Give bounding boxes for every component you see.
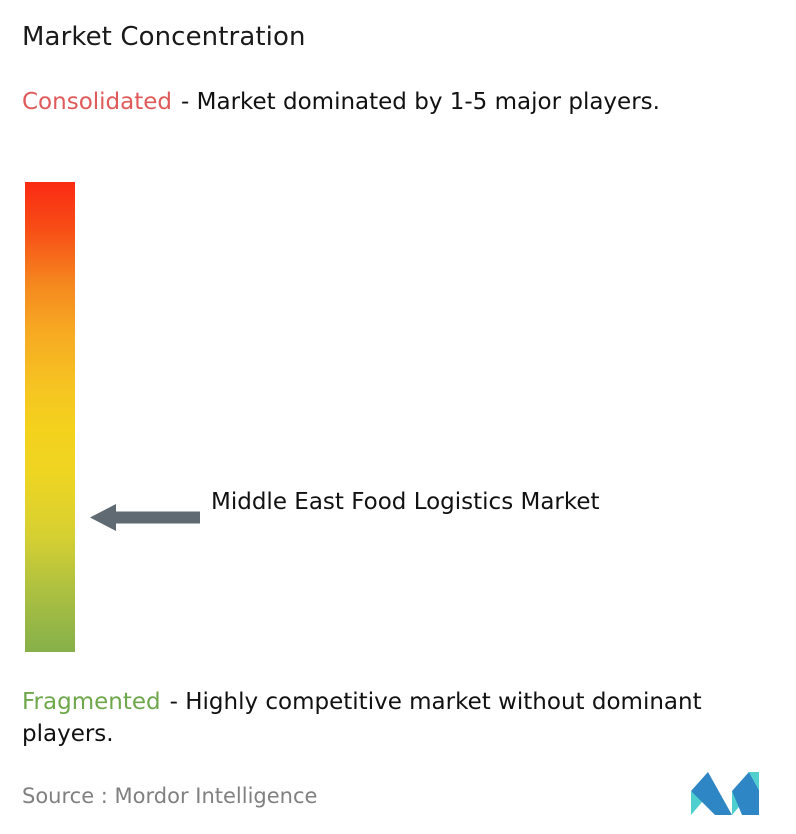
mordor-intelligence-logo-icon [691,772,759,815]
footer: Source : Mordor Intelligence [0,762,796,834]
fragmented-term-label: Fragmented [22,689,161,715]
market-position-label: Middle East Food Logistics Market [211,484,641,520]
source-attribution: Source : Mordor Intelligence [22,782,317,810]
fragmented-legend: Fragmented- Highly competitive market wi… [22,686,792,750]
consolidated-legend: Consolidated- Market dominated by 1-5 ma… [22,86,778,118]
consolidated-term-label: Consolidated [22,89,172,115]
page-title: Market Concentration [22,20,306,54]
market-concentration-gradient-bar [25,182,75,652]
market-position-arrow-icon [90,503,200,532]
consolidated-description-text: - Market dominated by 1-5 major players. [181,89,660,115]
